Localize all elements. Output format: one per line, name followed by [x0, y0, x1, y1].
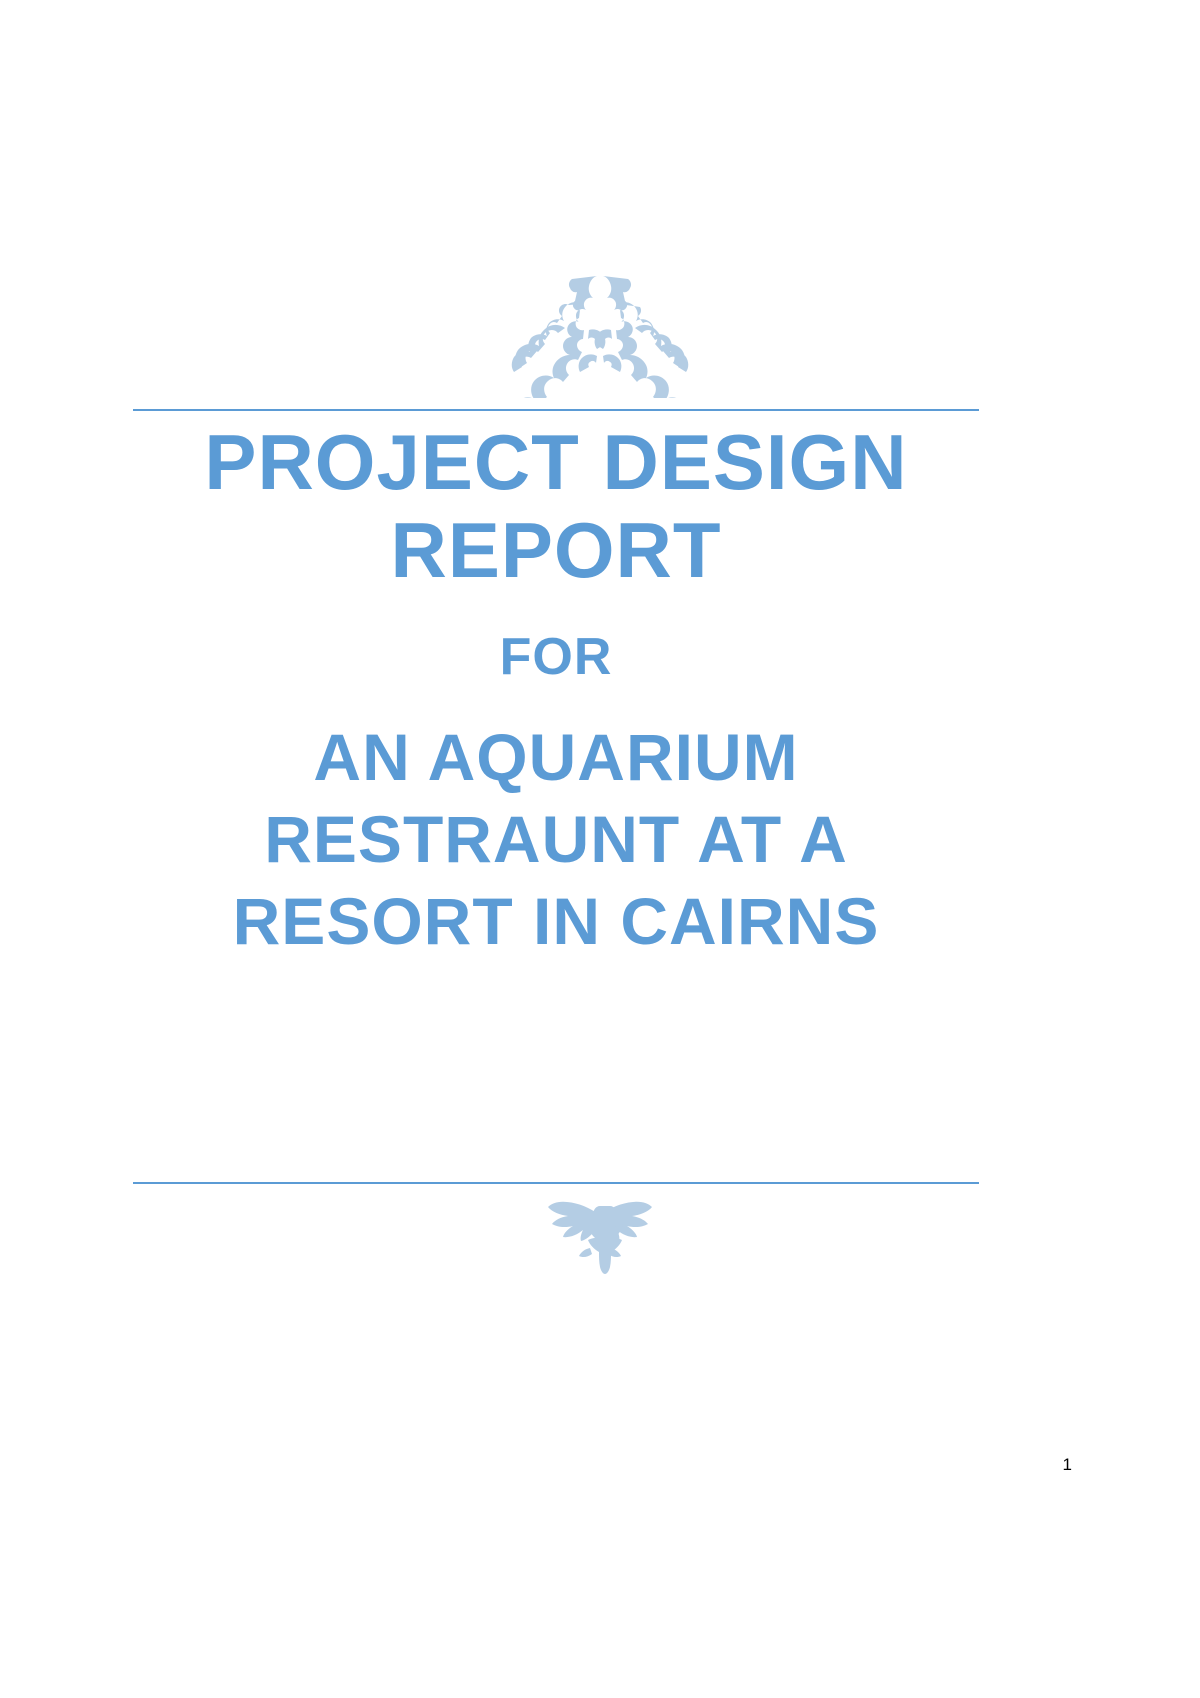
- page-subtitle: AN AQUARIUM RESTRAUNT AT A RESORT IN CAI…: [133, 716, 979, 962]
- cover-page: PROJECT DESIGN REPORT FOR AN AQUARIUM RE…: [0, 0, 1200, 1698]
- divider-bottom: [133, 1182, 979, 1184]
- page-number: 1: [1063, 1455, 1072, 1475]
- title-connector-for: FOR: [133, 628, 979, 686]
- title-block: PROJECT DESIGN REPORT FOR AN AQUARIUM RE…: [133, 418, 979, 962]
- divider-top: [133, 409, 979, 411]
- ornament-top-container: [0, 268, 1200, 398]
- ornament-bottom-container: [0, 1186, 1200, 1296]
- leaf-fleuron-ornament: [546, 1186, 654, 1278]
- floral-flourish-ornament: [485, 270, 715, 398]
- page-title: PROJECT DESIGN REPORT: [133, 418, 979, 594]
